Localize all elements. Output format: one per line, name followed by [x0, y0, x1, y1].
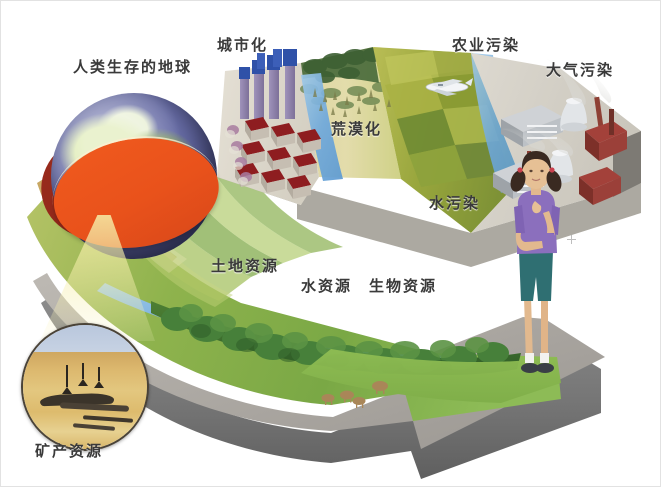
label-land-resource: 土地资源 [211, 255, 279, 276]
label-water-pollution: 水污染 [429, 192, 480, 213]
label-mineral-resource: 矿产资源 [35, 440, 103, 461]
diagram-canvas: 人类生存的地球 城市化 农业污染 大气污染 荒漠化 水污染 土地资源 水资源 生… [0, 0, 661, 487]
label-bio-resource: 生物资源 [369, 275, 437, 296]
earth-globe [41, 93, 221, 265]
label-desertification: 荒漠化 [331, 118, 382, 139]
label-urbanization: 城市化 [217, 34, 268, 55]
label-air-pollution: 大气污染 [546, 59, 614, 80]
label-agri-pollution: 农业污染 [452, 34, 520, 55]
label-water-resource: 水资源 [301, 275, 352, 296]
label-earth: 人类生存的地球 [73, 56, 192, 77]
mineral-resource-inset [21, 323, 149, 451]
registration-cross [567, 235, 576, 244]
